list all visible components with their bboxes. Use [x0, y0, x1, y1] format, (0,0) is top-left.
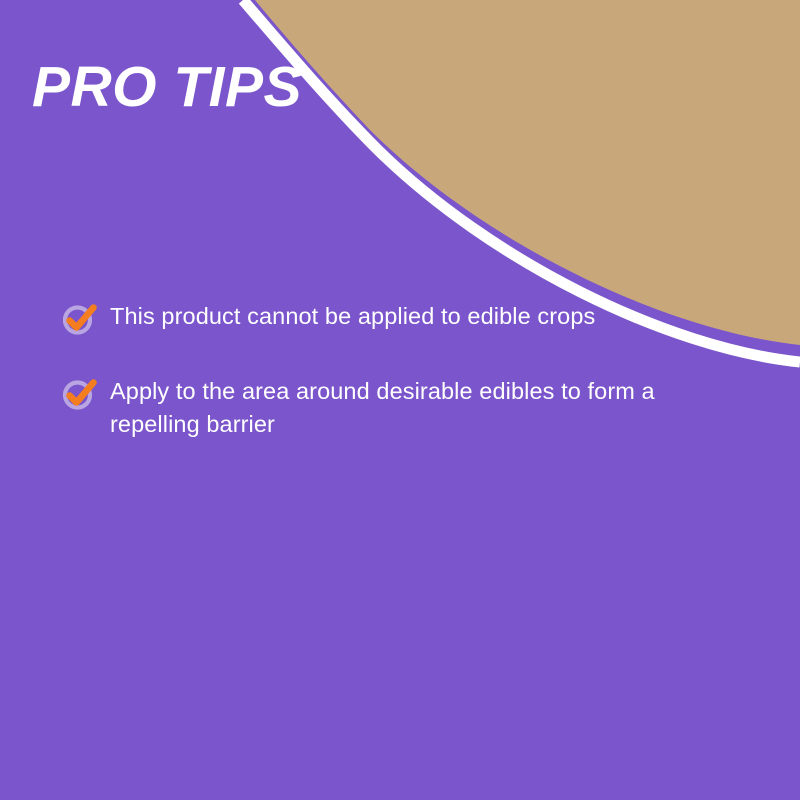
- list-item: This product cannot be applied to edible…: [60, 297, 750, 339]
- tips-list: This product cannot be applied to edible…: [60, 297, 750, 475]
- pro-tips-card: PRO TIPS This product cannot be applied …: [0, 0, 800, 800]
- check-circle-icon: [60, 374, 100, 414]
- tan-swoosh-shape: [255, 0, 800, 345]
- list-item-label: Apply to the area around desirable edibl…: [110, 372, 725, 442]
- list-item-label: This product cannot be applied to edible…: [110, 297, 725, 333]
- page-title: PRO TIPS: [32, 58, 302, 118]
- check-circle-icon: [60, 299, 100, 339]
- list-item: Apply to the area around desirable edibl…: [60, 372, 750, 442]
